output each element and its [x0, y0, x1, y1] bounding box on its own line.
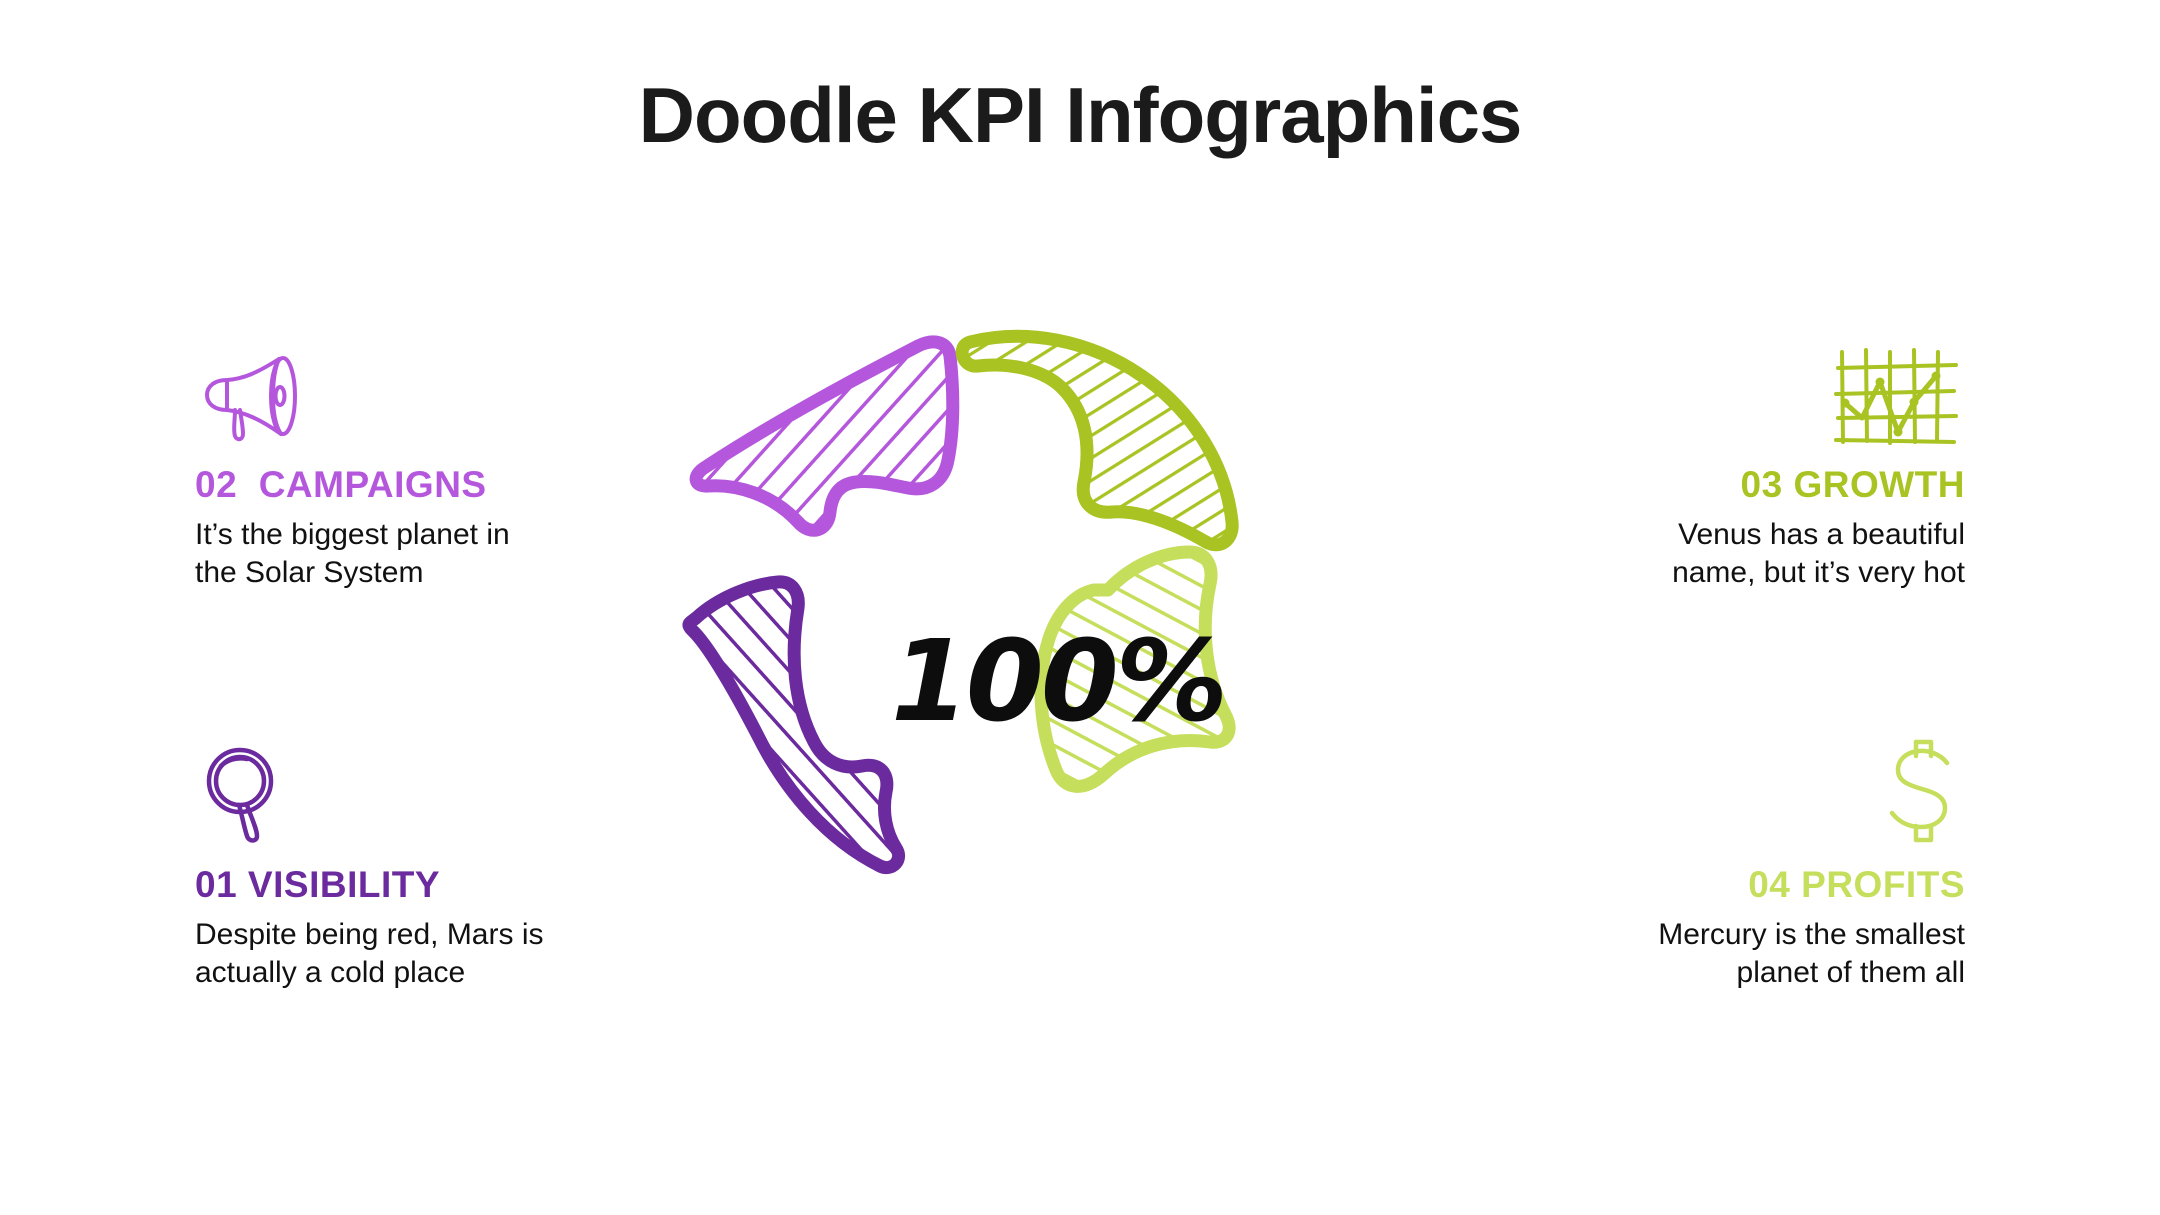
doodle-wheel-svg — [660, 300, 1500, 1040]
megaphone-icon-wrapper — [195, 338, 625, 446]
kpi-body-campaigns: It’s the biggest planet in the Solar Sys… — [195, 516, 625, 593]
kpi-body-line: Venus has a beautiful — [1535, 516, 1965, 554]
kpi-body-line: actually a cold place — [195, 954, 625, 992]
line-chart-grid-icon-wrapper — [1535, 338, 1965, 446]
megaphone-icon — [195, 346, 325, 446]
dollar-sign-icon-wrapper — [1535, 738, 1965, 846]
kpi-block-profits[interactable]: 04 PROFITS Mercury is the smallest plane… — [1535, 738, 1965, 993]
dollar-sign-icon — [1875, 736, 1965, 846]
kpi-body-visibility: Despite being red, Mars is actually a co… — [195, 916, 625, 993]
line-chart-grid-icon — [1830, 346, 1965, 446]
kpi-body-line: Mercury is the smallest — [1535, 916, 1965, 954]
kpi-body-line: Despite being red, Mars is — [195, 916, 625, 954]
kpi-body-line: planet of them all — [1535, 954, 1965, 992]
magnifier-icon-wrapper — [195, 738, 625, 846]
page-title: Doodle KPI Infographics — [0, 70, 2160, 161]
kpi-body-profits: Mercury is the smallest planet of them a… — [1535, 916, 1965, 993]
kpi-block-visibility[interactable]: 01 VISIBILITY Despite being red, Mars is… — [195, 738, 625, 993]
kpi-title-campaigns: 02 CAMPAIGNS — [195, 464, 625, 506]
magnifier-icon — [195, 741, 305, 846]
kpi-title-visibility: 01 VISIBILITY — [195, 864, 625, 906]
kpi-title-growth: 03 GROWTH — [1535, 464, 1965, 506]
kpi-block-campaigns[interactable]: 02 CAMPAIGNS It’s the biggest planet in … — [195, 338, 625, 593]
kpi-block-growth[interactable]: 03 GROWTH Venus has a beautiful name, bu… — [1535, 338, 1965, 593]
kpi-body-line: It’s the biggest planet in — [195, 516, 625, 554]
kpi-title-profits: 04 PROFITS — [1535, 864, 1965, 906]
kpi-body-line: name, but it’s very hot — [1535, 554, 1965, 592]
kpi-body-line: the Solar System — [195, 554, 625, 592]
kpi-body-growth: Venus has a beautiful name, but it’s ver… — [1535, 516, 1965, 593]
kpi-doodle-wheel — [660, 300, 1500, 1040]
